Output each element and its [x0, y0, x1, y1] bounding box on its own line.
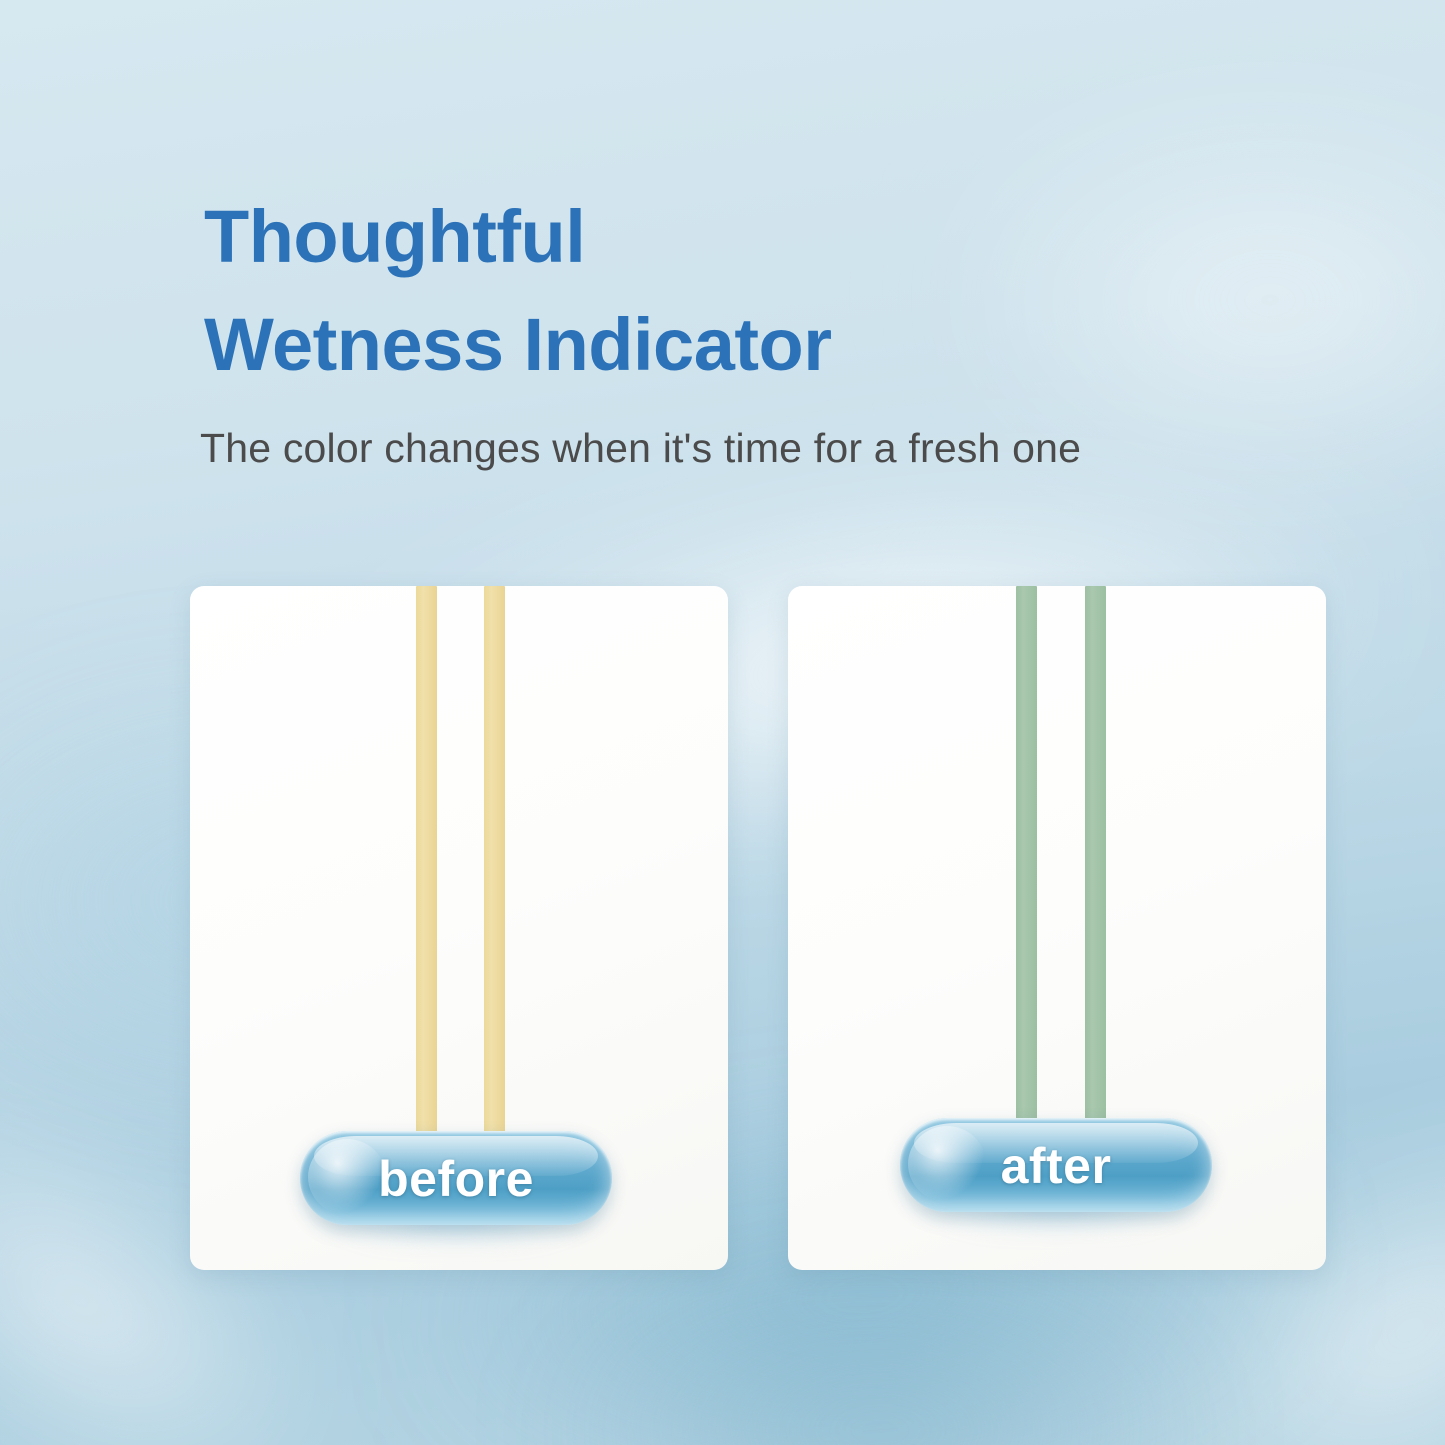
- wetness-indicator-stripe: [1085, 586, 1106, 1120]
- promo-banner: Thoughtful Wetness Indicator The color c…: [0, 0, 1445, 1445]
- comparison-card-before: before: [190, 586, 728, 1270]
- badge-label-before: before: [300, 1131, 612, 1227]
- wetness-indicator-stripe: [416, 586, 437, 1132]
- badge-label-after: after: [900, 1118, 1212, 1214]
- badge-before: before: [300, 1131, 612, 1227]
- comparison-section: before after: [0, 0, 1445, 1445]
- wetness-indicator-stripe: [484, 586, 505, 1132]
- wetness-indicator-stripe: [1016, 586, 1037, 1120]
- comparison-card-after: after: [788, 586, 1326, 1270]
- badge-after: after: [900, 1118, 1212, 1214]
